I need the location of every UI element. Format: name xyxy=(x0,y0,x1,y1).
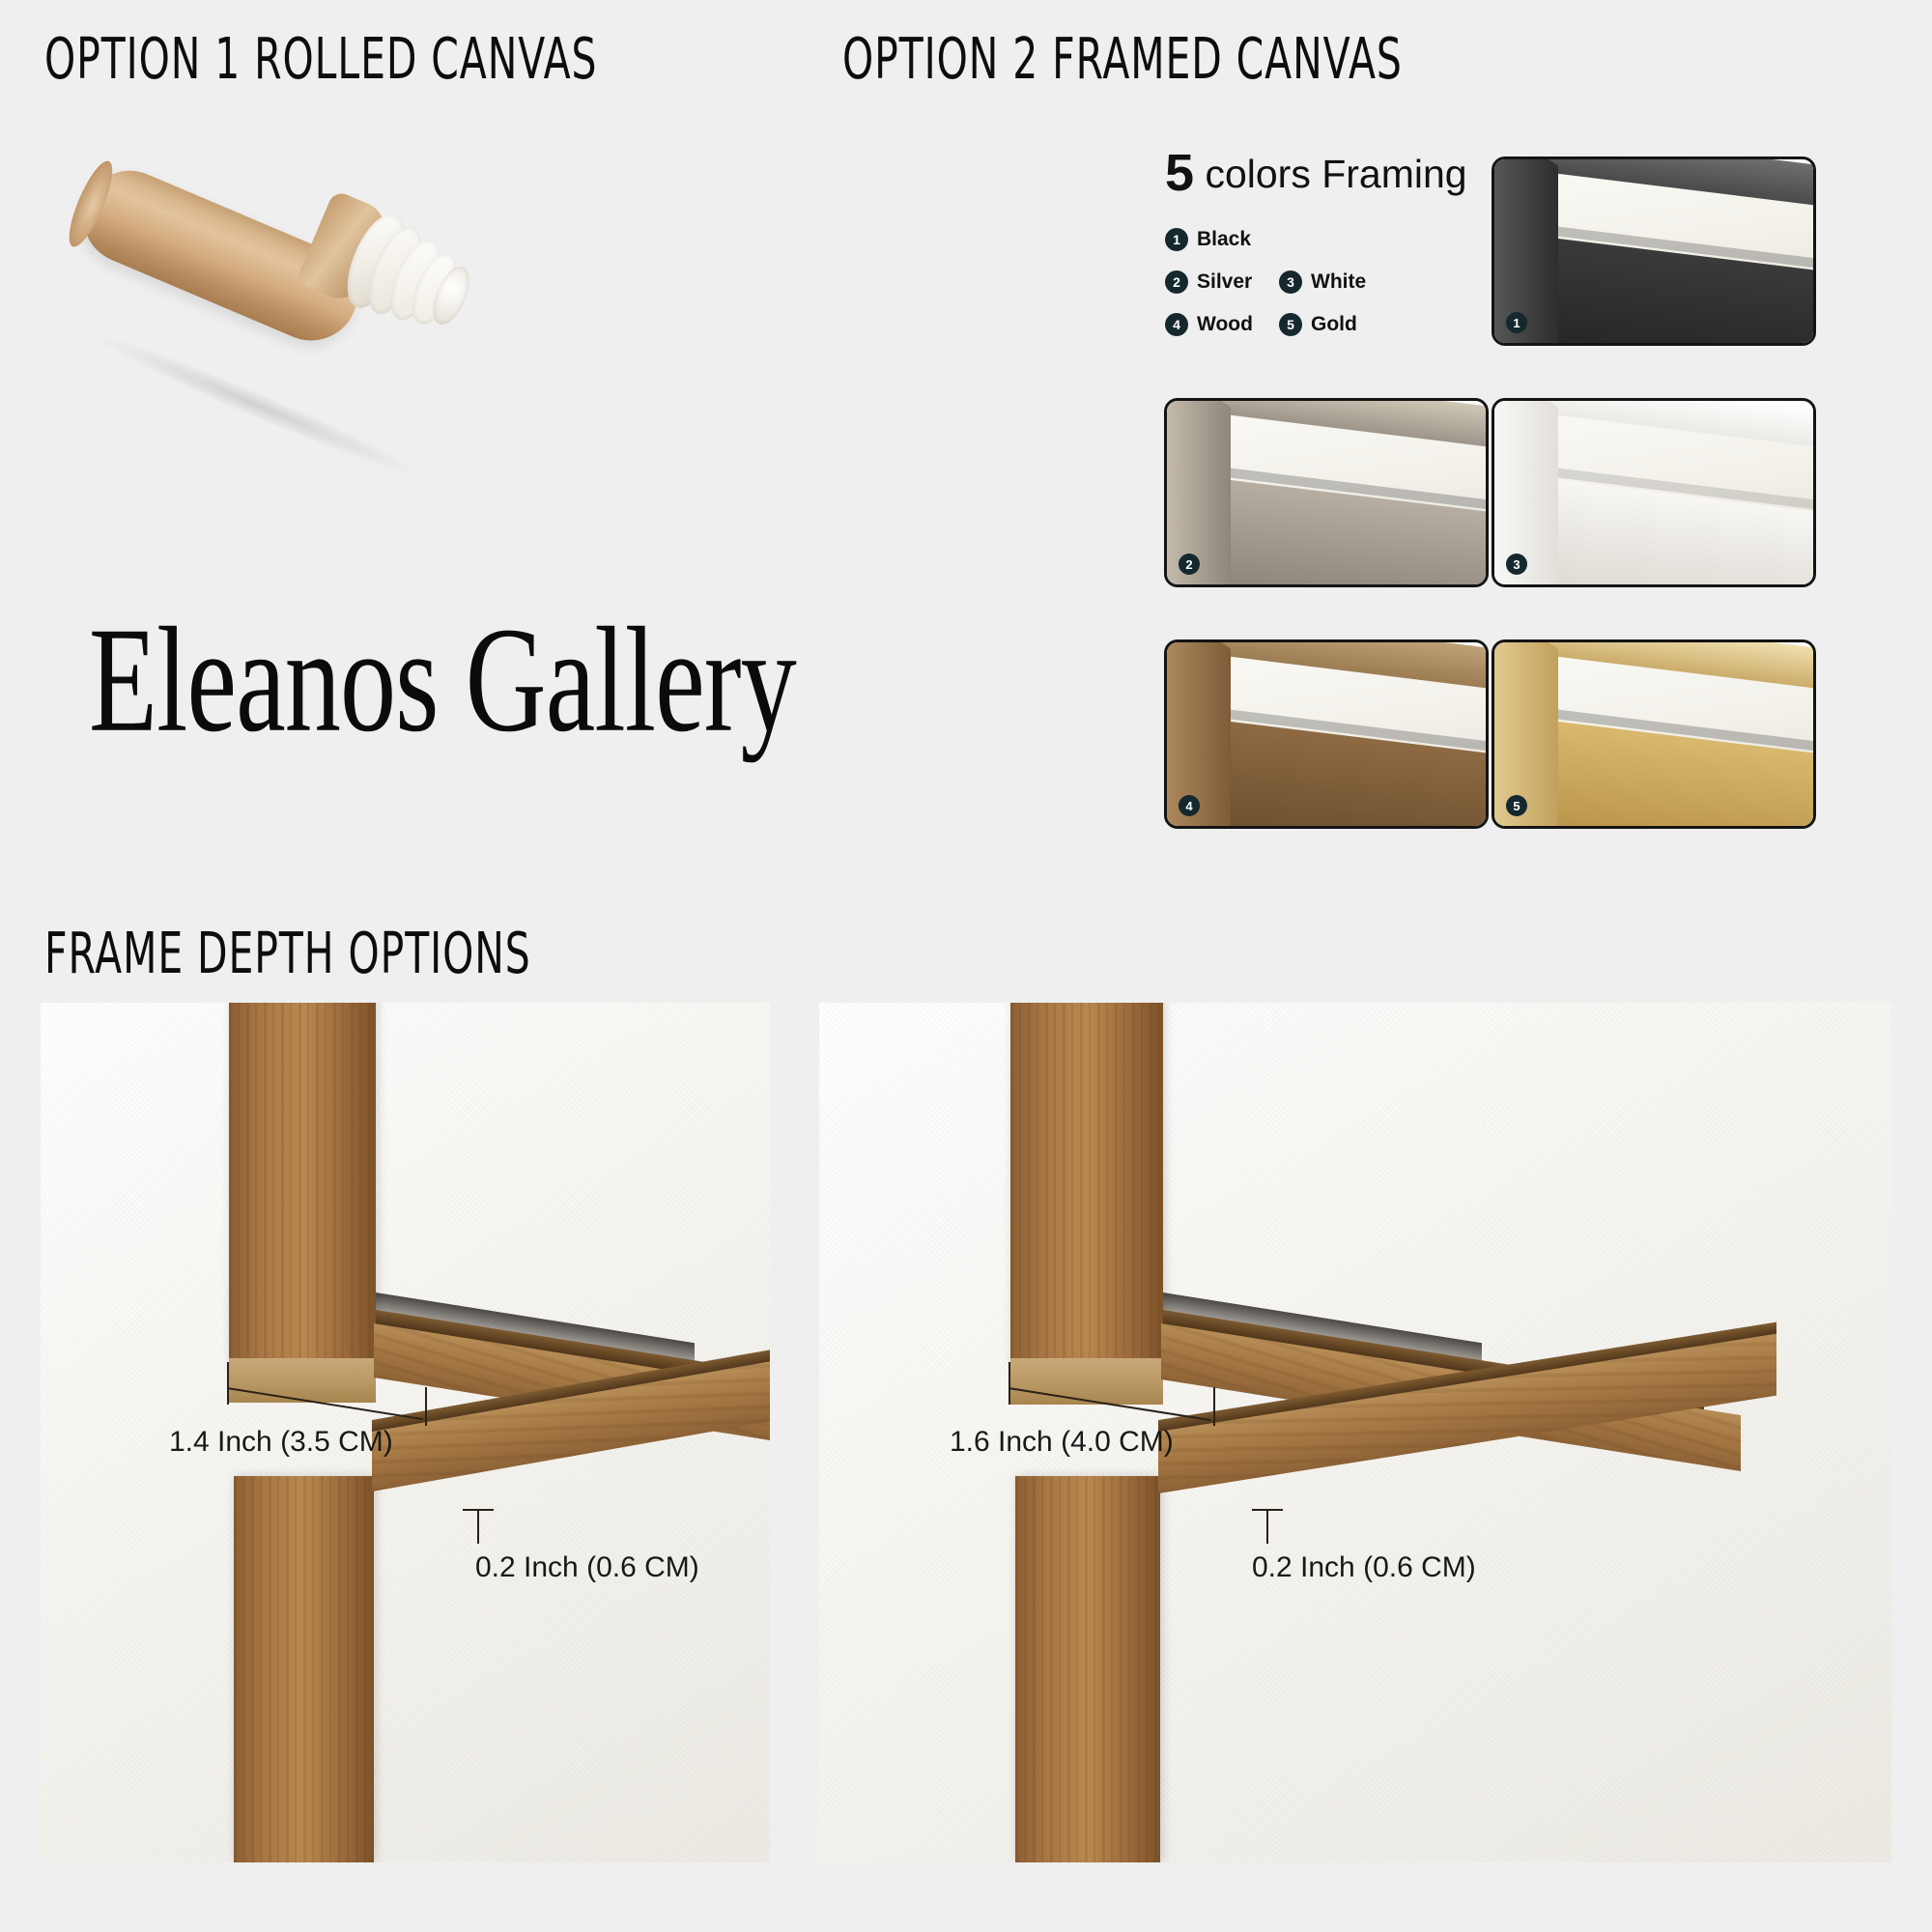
legend-label: Wood xyxy=(1197,313,1253,336)
canvas-gap-label-right: 0.2 Inch (0.6 CM) xyxy=(1252,1551,1476,1584)
frame-swatch-white[interactable]: 3 xyxy=(1492,398,1816,587)
frame-post-foot xyxy=(1010,1358,1163,1405)
legend-item-gold[interactable]: 5 Gold xyxy=(1279,313,1393,336)
frame-post-foot xyxy=(229,1358,376,1403)
badge-number-icon: 5 xyxy=(1506,795,1527,816)
badge-number-icon: 2 xyxy=(1165,270,1188,294)
frame-post-lower xyxy=(234,1476,374,1862)
frame-depth-label-right: 1.6 Inch (4.0 CM) xyxy=(950,1426,1174,1459)
frame-swatch-silver[interactable]: 2 xyxy=(1164,398,1489,587)
dim-line xyxy=(463,1509,494,1511)
badge-number-icon: 5 xyxy=(1279,313,1302,336)
badge-number-icon: 3 xyxy=(1506,554,1527,575)
frame-corner-photo xyxy=(1167,401,1486,584)
tube-shadow xyxy=(92,326,422,485)
heading-option-2-framed-canvas: OPTION 2 FRAMED CANVAS xyxy=(842,26,1403,92)
heading-option-1-rolled-canvas: OPTION 1 ROLLED CANVAS xyxy=(44,26,597,92)
depth-photo-left: 1.4 Inch (3.5 CM) 0.2 Inch (0.6 CM) xyxy=(41,1003,770,1862)
legend-label: White xyxy=(1311,270,1366,294)
frame-post xyxy=(229,1003,376,1370)
frame-swatch-black[interactable]: 1 xyxy=(1492,156,1816,346)
legend-label: Silver xyxy=(1197,270,1252,294)
dim-tick xyxy=(425,1387,427,1426)
dim-tick xyxy=(1009,1362,1010,1405)
frame-swatch-gold[interactable]: 5 xyxy=(1492,639,1816,829)
legend-item-silver[interactable]: 2 Silver xyxy=(1165,270,1279,294)
dim-tick xyxy=(227,1362,229,1405)
frame-corner-photo xyxy=(1167,642,1486,826)
badge-number-icon: 4 xyxy=(1179,795,1200,816)
depth-photo-right: 1.6 Inch (4.0 CM) 0.2 Inch (0.6 CM) xyxy=(819,1003,1891,1862)
legend-label: Black xyxy=(1197,228,1251,251)
frame-depth-label-left: 1.4 Inch (3.5 CM) xyxy=(169,1426,393,1459)
legend-label: Gold xyxy=(1311,313,1357,336)
frame-post xyxy=(1010,1003,1163,1370)
frame-corner-photo xyxy=(1494,401,1813,584)
framing-legend-title: 5 colors Framing xyxy=(1165,147,1484,199)
rolled-canvas-tube-illustration xyxy=(68,135,522,357)
legend-item-white[interactable]: 3 White xyxy=(1279,270,1393,294)
dim-tick xyxy=(1213,1387,1215,1426)
legend-item-wood[interactable]: 4 Wood xyxy=(1165,313,1279,336)
legend-row: 2 Silver 3 White xyxy=(1165,270,1484,294)
badge-number-icon: 4 xyxy=(1165,313,1188,336)
frame-corner-photo xyxy=(1494,642,1813,826)
dim-tick xyxy=(1266,1509,1268,1544)
infographic-sheet: OPTION 1 ROLLED CANVAS Eleanos Gallery O… xyxy=(0,0,1932,1932)
dim-line xyxy=(1252,1509,1283,1511)
canvas-gap-label-left: 0.2 Inch (0.6 CM) xyxy=(475,1551,699,1584)
legend-row: 4 Wood 5 Gold xyxy=(1165,313,1484,336)
framing-title-rest: colors Framing xyxy=(1205,152,1466,196)
badge-number-icon: 3 xyxy=(1279,270,1302,294)
frame-corner-photo xyxy=(1494,159,1813,343)
badge-number-icon: 1 xyxy=(1506,312,1527,333)
frame-post-lower xyxy=(1015,1476,1160,1862)
dim-tick xyxy=(477,1509,479,1544)
brand-logo-text: Eleanos Gallery xyxy=(89,592,796,767)
badge-number-icon: 2 xyxy=(1179,554,1200,575)
legend-item-black[interactable]: 1 Black xyxy=(1165,228,1279,251)
frame-swatch-wood[interactable]: 4 xyxy=(1164,639,1489,829)
legend-row: 1 Black xyxy=(1165,228,1484,251)
framing-count: 5 xyxy=(1165,144,1194,202)
framing-colors-legend: 5 colors Framing 1 Black 2 Silver 3 Whit… xyxy=(1165,147,1484,355)
heading-frame-depth-options: FRAME DEPTH OPTIONS xyxy=(44,921,531,986)
badge-number-icon: 1 xyxy=(1165,228,1188,251)
